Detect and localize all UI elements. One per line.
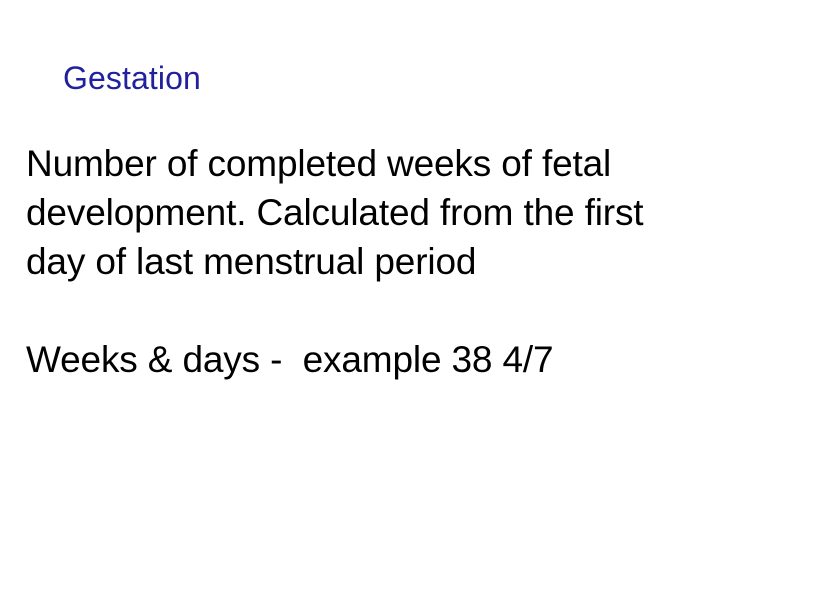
body-paragraph-definition: Number of completed weeks of fetal devel… <box>26 139 686 286</box>
presentation-slide: Gestation Number of completed weeks of f… <box>0 0 814 600</box>
body-paragraph-notation-example: Weeks & days - example 38 4/7 <box>26 335 726 384</box>
slide-title: Gestation <box>63 59 201 97</box>
slide-body-content: Number of completed weeks of fetal devel… <box>26 139 726 384</box>
paragraph-spacer <box>26 286 726 335</box>
